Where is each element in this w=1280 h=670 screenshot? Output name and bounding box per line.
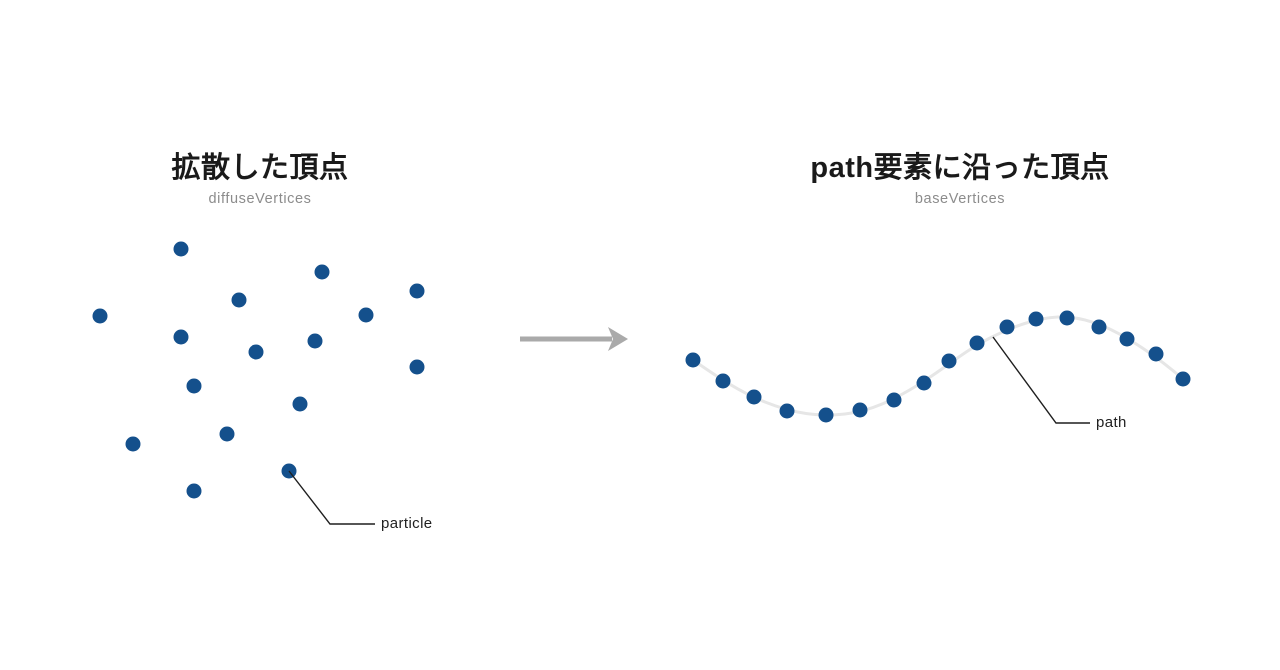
right-panel-subtitle: baseVertices <box>640 192 1280 208</box>
diagram-canvas: 拡散した頂点 diffuseVertices path要素に沿った頂点 base… <box>0 0 1280 670</box>
right-panel-title: path要素に沿った頂点 <box>640 152 1280 185</box>
left-panel-title: 拡散した頂点 <box>0 152 520 185</box>
transform-arrow-head <box>608 327 628 351</box>
particle-label: particle <box>381 515 433 532</box>
left-panel-subtitle: diffuseVertices <box>0 192 520 208</box>
right-panel-heading: path要素に沿った頂点 baseVertices <box>640 152 1280 208</box>
right-panel: path要素に沿った頂点 baseVertices <box>640 0 1280 670</box>
left-panel: 拡散した頂点 diffuseVertices <box>0 0 520 670</box>
path-label: path <box>1096 414 1127 431</box>
left-panel-heading: 拡散した頂点 diffuseVertices <box>0 152 520 208</box>
transform-arrow <box>520 327 628 351</box>
